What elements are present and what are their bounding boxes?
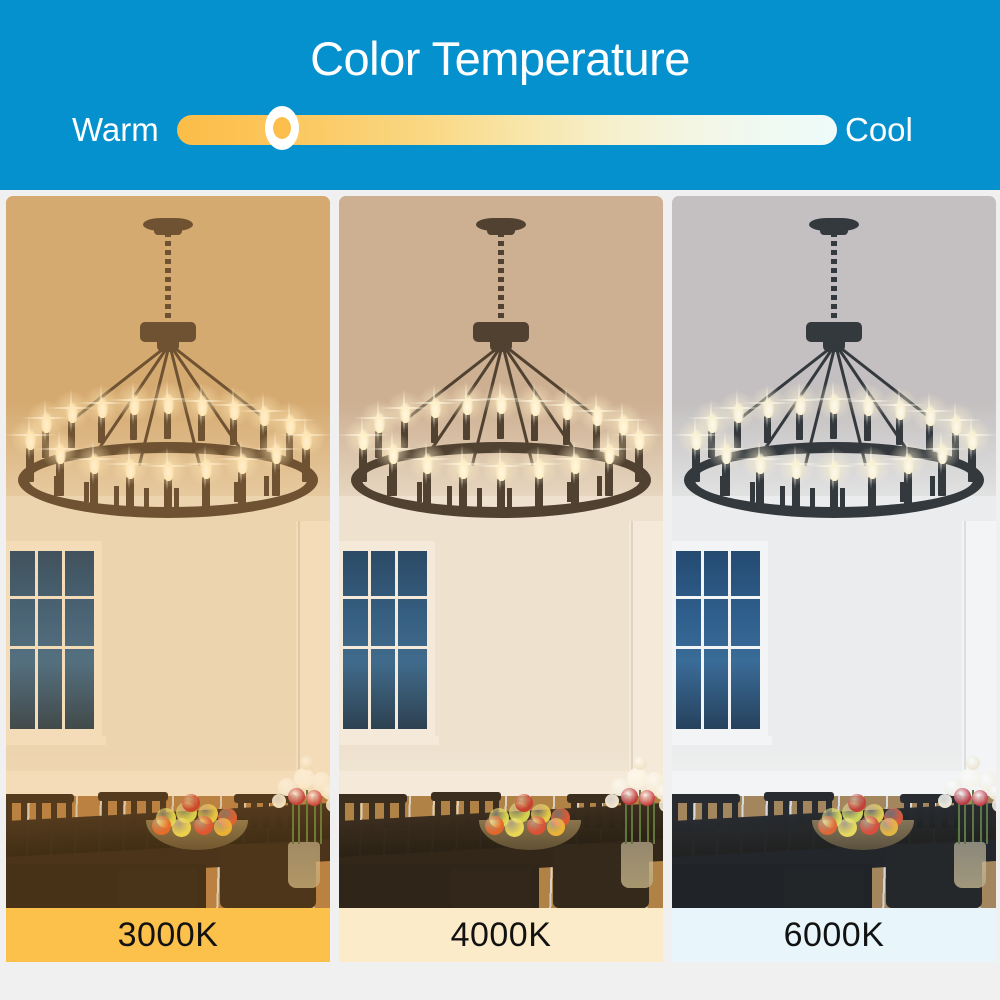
window	[339, 541, 435, 741]
flower-stem	[986, 802, 988, 844]
flower-bloom	[966, 756, 980, 770]
flower-bloom	[621, 788, 638, 805]
flower-bloom	[288, 788, 305, 805]
fruit	[838, 818, 857, 837]
dining-room-scene	[339, 196, 663, 908]
comparison-panel-3000k	[6, 196, 330, 908]
flower-vase	[954, 842, 986, 888]
hanging-chain	[165, 232, 171, 326]
flower-stem	[653, 802, 655, 844]
temperature-label-6000k: 6000K	[672, 908, 996, 962]
window	[6, 541, 102, 741]
temperature-label-4000k: 4000K	[339, 908, 663, 962]
hanging-chain	[831, 232, 837, 326]
flower-bloom	[633, 756, 647, 770]
door-edge	[962, 521, 996, 771]
fruit	[547, 818, 565, 836]
slider-knob[interactable]	[265, 106, 299, 150]
slider-warm-label: Warm	[72, 104, 159, 156]
flower-bloom	[605, 794, 619, 808]
comparison-panel-6000k	[672, 196, 996, 908]
dining-chair-foreground	[451, 868, 531, 908]
fruit	[860, 816, 879, 835]
flower-bloom	[960, 768, 980, 788]
fruit	[505, 818, 524, 837]
flower-vase	[288, 842, 320, 888]
temperature-label-3000k: 3000K	[6, 908, 330, 962]
window-sill	[6, 736, 106, 745]
chandelier	[672, 196, 996, 526]
fruit	[172, 818, 191, 837]
fruit	[182, 794, 200, 812]
flower-stem	[292, 802, 294, 844]
window-sill	[672, 736, 772, 745]
fruit	[818, 816, 837, 835]
flower-bloom	[272, 794, 286, 808]
dining-room-scene	[6, 196, 330, 908]
window	[672, 541, 768, 741]
dining-room-scene	[672, 196, 996, 908]
fruit	[214, 818, 232, 836]
door-edge	[296, 521, 330, 771]
fruit	[527, 816, 546, 835]
window-sill	[339, 736, 439, 745]
flower-vase	[621, 842, 653, 888]
flower-stem	[958, 802, 960, 844]
comparison-panel-4000k	[339, 196, 663, 908]
flower-bloom	[938, 794, 952, 808]
flower-bloom	[954, 788, 971, 805]
flower-stem	[625, 802, 627, 844]
chandelier	[6, 196, 330, 526]
dining-chair-foreground	[784, 868, 864, 908]
flower-bloom	[300, 756, 314, 770]
flower-bloom	[639, 790, 655, 806]
slider-cool-label: Cool	[845, 104, 913, 156]
fruit	[848, 794, 866, 812]
flower-bloom	[627, 768, 647, 788]
dining-chair-foreground	[118, 868, 198, 908]
fruit	[152, 816, 171, 835]
flower-bloom	[294, 768, 314, 788]
flower-stem	[320, 802, 322, 844]
flower-bloom	[306, 790, 322, 806]
fruit	[194, 816, 213, 835]
fruit	[485, 816, 504, 835]
fruit	[880, 818, 898, 836]
color-temperature-slider[interactable]: Warm Cool	[0, 104, 1000, 156]
hanging-chain	[498, 232, 504, 326]
page-title: Color Temperature	[0, 30, 1000, 88]
door-edge	[629, 521, 663, 771]
flower-bloom	[972, 790, 988, 806]
chandelier	[339, 196, 663, 526]
fruit	[515, 794, 533, 812]
header-banner: Color Temperature Warm Cool	[0, 0, 1000, 190]
